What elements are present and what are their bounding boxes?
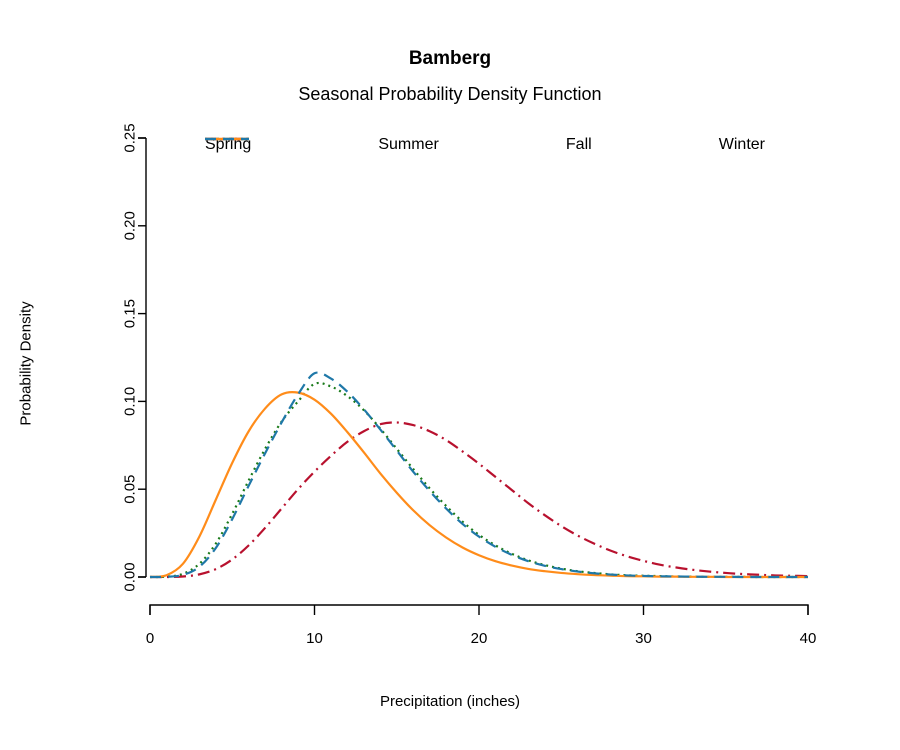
y-axis-title: Probability Density — [18, 254, 35, 474]
y-tick-label-3: 0.15 — [122, 299, 139, 328]
x-tick-label-2: 20 — [471, 630, 488, 647]
y-axis-line — [138, 138, 146, 577]
chart-container: Bamberg Seasonal Probability Density Fun… — [0, 0, 900, 750]
y-tick-label-5: 0.25 — [122, 123, 139, 152]
x-tick-label-1: 10 — [306, 630, 323, 647]
y-tick-label-1: 0.05 — [122, 475, 139, 504]
series-line-spring — [150, 383, 808, 577]
x-tick-label-0: 0 — [146, 630, 154, 647]
y-tick-label-2: 0.10 — [122, 387, 139, 416]
series-line-summer — [150, 422, 808, 577]
plot-area: 0.000.050.100.150.200.25010203040 — [0, 0, 900, 750]
y-tick-label-4: 0.20 — [122, 211, 139, 240]
x-axis-title: Precipitation (inches) — [0, 693, 900, 710]
x-tick-label-4: 40 — [800, 630, 817, 647]
x-tick-label-3: 30 — [635, 630, 652, 647]
y-tick-label-0: 0.00 — [122, 562, 139, 591]
